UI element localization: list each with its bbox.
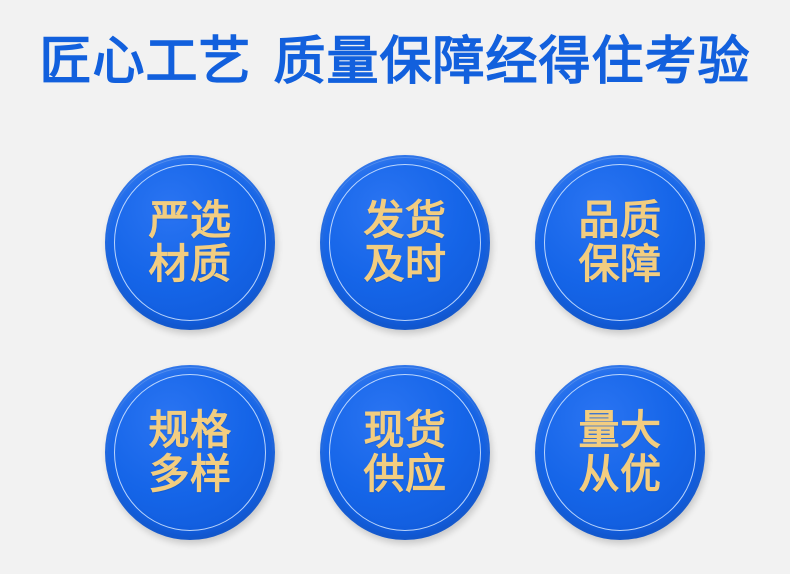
badge-label: 严选 材质 bbox=[149, 199, 232, 287]
badge-in-stock-supply[interactable]: 现货 供应 bbox=[320, 365, 490, 540]
badge-label-line1: 发货 bbox=[364, 199, 447, 243]
badge-bulk-discount[interactable]: 量大 从优 bbox=[535, 365, 705, 540]
badge-varied-specifications[interactable]: 规格 多样 bbox=[105, 365, 275, 540]
page-title: 匠心工艺质量保障经得住考验 bbox=[39, 36, 750, 88]
badge-strict-material-selection[interactable]: 严选 材质 bbox=[105, 155, 275, 330]
badge-label-line2: 保障 bbox=[579, 243, 662, 287]
badge-label-line1: 量大 bbox=[579, 409, 662, 453]
badge-label-line2: 从优 bbox=[579, 453, 662, 497]
badge-label-line2: 供应 bbox=[364, 453, 447, 497]
badge-label-line1: 品质 bbox=[579, 199, 662, 243]
badge-label-line1: 严选 bbox=[149, 199, 232, 243]
badge-label: 品质 保障 bbox=[579, 199, 662, 287]
badge-label-line1: 现货 bbox=[364, 409, 447, 453]
headline-part-2: 质量保障经得住考验 bbox=[274, 32, 751, 92]
promo-banner: 匠心工艺质量保障经得住考验 严选 材质 发货 及时 品质 保障 规格 多样 bbox=[0, 0, 790, 574]
badge-label-line2: 材质 bbox=[149, 243, 232, 287]
badge-label: 量大 从优 bbox=[579, 409, 662, 497]
badge-label: 发货 及时 bbox=[364, 199, 447, 287]
badge-label-line2: 多样 bbox=[149, 453, 232, 497]
badge-label: 规格 多样 bbox=[149, 409, 232, 497]
badge-label: 现货 供应 bbox=[364, 409, 447, 497]
feature-badge-grid: 严选 材质 发货 及时 品质 保障 规格 多样 现货 供 bbox=[105, 155, 705, 540]
badge-label-line1: 规格 bbox=[149, 409, 232, 453]
badge-label-line2: 及时 bbox=[364, 243, 447, 287]
badge-timely-shipping[interactable]: 发货 及时 bbox=[320, 155, 490, 330]
headline-part-1: 匠心工艺 bbox=[39, 32, 251, 92]
headline-banner: 匠心工艺质量保障经得住考验 bbox=[0, 26, 790, 98]
badge-quality-guarantee[interactable]: 品质 保障 bbox=[535, 155, 705, 330]
